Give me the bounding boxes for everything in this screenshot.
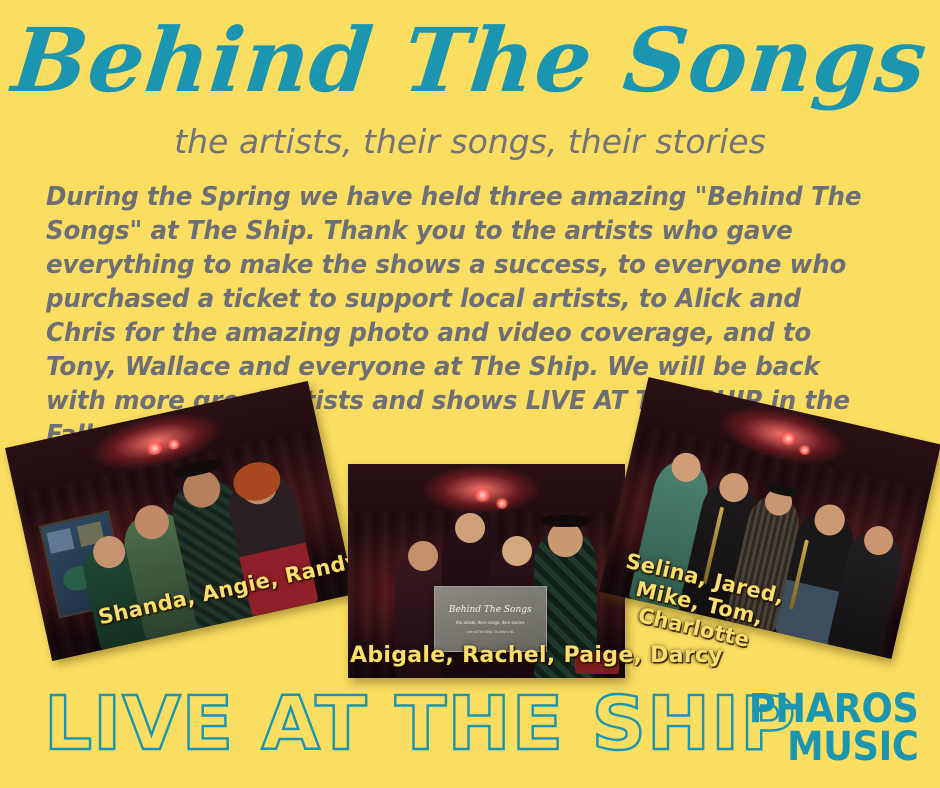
event-sign: Behind The Songs the artists, their song… <box>434 586 547 652</box>
person-head <box>455 513 485 543</box>
pharos-music-logo: PHAROS MUSIC <box>748 690 918 766</box>
stage-prop <box>575 652 619 673</box>
page-subtitle: the artists, their songs, their stories <box>0 124 940 160</box>
page-title: Behind The Songs <box>0 14 940 106</box>
sign-footer: Live at The Ship, St John's NL <box>466 630 514 634</box>
stage-light <box>495 498 509 509</box>
poster: Behind The Songs the artists, their song… <box>0 0 940 788</box>
person-head <box>548 522 582 556</box>
stage-light <box>473 488 492 502</box>
logo-line-2: MUSIC <box>748 728 918 766</box>
photo-abigale-rachel-paige-darcy: Behind The Songs the artists, their song… <box>348 464 625 678</box>
sign-title: Behind The Songs <box>449 605 532 615</box>
logo-line-1: PHAROS <box>748 690 918 728</box>
person-head <box>502 536 532 566</box>
sign-subtitle: the artists, their songs, their stories <box>456 620 524 625</box>
person-head <box>408 541 438 571</box>
banner-live-at-the-ship: LIVE AT THE SHIP <box>44 686 758 762</box>
hat <box>542 515 589 527</box>
photo-selina-jared-mike-tom-charlotte <box>599 377 940 659</box>
